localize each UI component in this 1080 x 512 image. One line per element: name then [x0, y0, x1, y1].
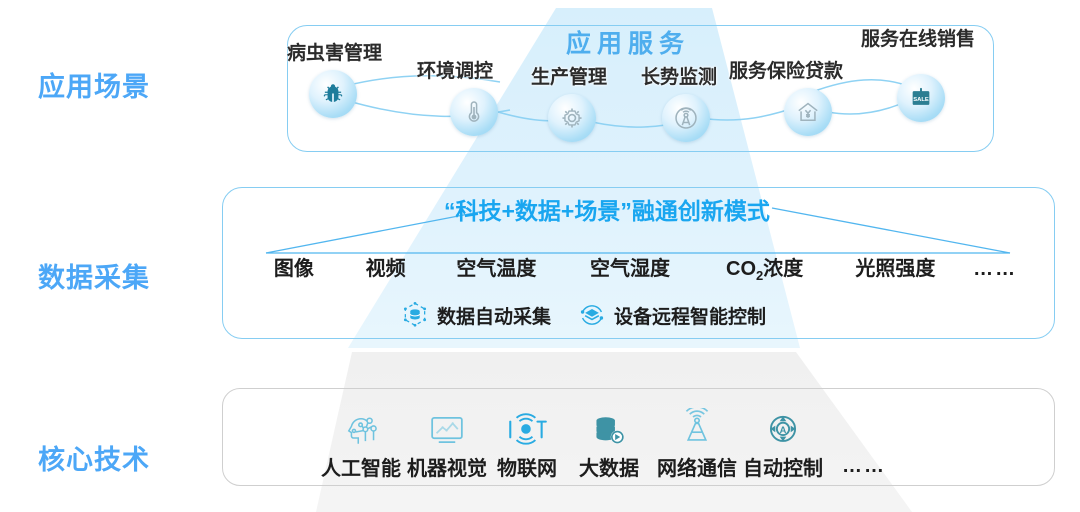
- core-items-ellipsis: ……: [842, 455, 886, 479]
- core-item-label: 自动控制: [743, 459, 823, 479]
- core-item-automatic-control[interactable]: A 自动控制: [740, 404, 826, 479]
- data-item-video: 视频: [340, 259, 432, 279]
- data-item-image: 图像: [248, 259, 340, 279]
- core-item-label: 大数据: [579, 459, 639, 479]
- application-service-heading: 应用服务: [566, 32, 690, 57]
- data-items-row: 图像 视频 空气温度 空气湿度 CO2浓度 光照强度 ……: [248, 258, 1030, 282]
- database-hex-icon: [400, 300, 430, 335]
- thermometer-icon: [450, 88, 498, 136]
- core-item-label: 物联网: [497, 459, 557, 479]
- core-item-label: 机器视觉: [407, 459, 487, 479]
- app-node-label: 病虫害管理: [287, 44, 382, 63]
- core-item-label: 人工智能: [321, 459, 401, 479]
- core-item-iot[interactable]: 物联网: [490, 404, 564, 479]
- monitor-chart-icon: [425, 404, 469, 452]
- app-node-label: 长势监测: [641, 68, 717, 87]
- signal-tower-icon: [662, 94, 710, 142]
- co2-suffix: 浓度: [763, 258, 803, 280]
- iot-icon: [504, 404, 550, 452]
- svg-text:A: A: [780, 425, 787, 435]
- svg-text:SALE: SALE: [913, 97, 929, 103]
- auto-control-icon: A: [761, 404, 805, 452]
- antenna-wave-icon: [675, 404, 719, 452]
- house-yuan-icon: [784, 88, 832, 136]
- data-item-air-temperature: 空气温度: [432, 259, 562, 279]
- bug-icon: [309, 70, 357, 118]
- data-feature-auto-collection: 数据自动采集: [400, 300, 551, 335]
- app-node-label: 服务保险贷款: [729, 62, 843, 81]
- data-item-air-humidity: 空气湿度: [561, 259, 699, 279]
- core-items-row: 人工智能 机器视觉: [318, 404, 886, 479]
- app-node-label: 环境调控: [417, 62, 493, 81]
- core-item-network-communication[interactable]: 网络通信: [654, 404, 740, 479]
- core-item-ai[interactable]: 人工智能: [318, 404, 404, 479]
- data-panel-title: “科技+数据+场景”融通创新模式: [444, 200, 770, 223]
- gear-icon: [548, 94, 596, 142]
- core-item-machine-vision[interactable]: 机器视觉: [404, 404, 490, 479]
- chevron-right: [772, 208, 1010, 253]
- app-node-label: 服务在线销售: [861, 30, 975, 49]
- core-item-label: 网络通信: [657, 459, 737, 479]
- infographic-canvas: 应用场景 数据采集 核心技术 应用服务 病虫害管理 环境调控 生产管理: [0, 0, 1080, 512]
- app-node-label: 生产管理: [531, 68, 607, 87]
- data-item-light-intensity: 光照强度: [831, 259, 961, 279]
- big-data-icon: [586, 404, 632, 452]
- co2-prefix: CO: [726, 258, 756, 280]
- sale-tag-icon: SALE: [897, 74, 945, 122]
- core-item-big-data[interactable]: 大数据: [564, 404, 654, 479]
- data-item-co2-concentration: CO2浓度: [699, 259, 831, 282]
- data-feature-label: 设备远程智能控制: [614, 308, 766, 327]
- ai-head-icon: [339, 404, 383, 452]
- layers-cycle-icon: [577, 300, 607, 335]
- data-features-row: 数据自动采集 设备远程智能控制: [400, 300, 766, 335]
- data-feature-remote-control: 设备远程智能控制: [577, 300, 766, 335]
- data-feature-label: 数据自动采集: [437, 308, 551, 327]
- data-items-ellipsis: ……: [960, 258, 1030, 281]
